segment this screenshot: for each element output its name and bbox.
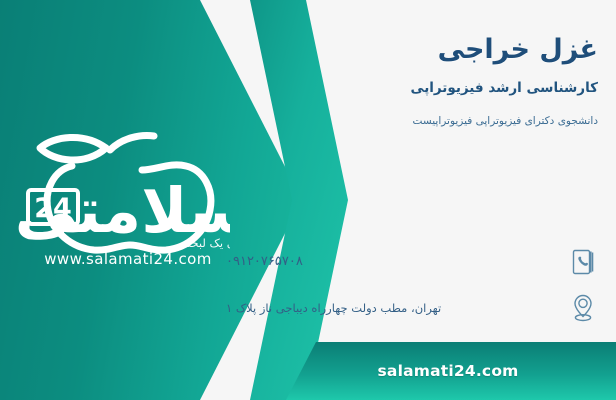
contact-list: ۰۹۱۲۰۷۶۵۷۰۸ تهران، مطب دولت چهارراه دیبا… <box>226 246 598 338</box>
salamati24-logo: سلامتی 24 به راحتی یک لبخند www.salamati… <box>14 104 230 284</box>
location-pin-icon <box>568 292 598 324</box>
address-text: تهران، مطب دولت چهارراه دیباجی ناز پلاک … <box>226 300 556 316</box>
badge-number: 24 <box>34 193 72 224</box>
logo-artwork: سلامتی 24 به راحتی یک لبخند <box>14 104 230 254</box>
person-subtitle: دانشجوی دکترای فیزیوتراپی فیزیوتراپیست <box>226 114 598 129</box>
apple-leaf-path <box>40 137 106 160</box>
business-card: سلامتی 24 به راحتی یک لبخند www.salamati… <box>0 0 616 400</box>
phone-book-icon <box>568 246 598 278</box>
logo-badge-24: 24 <box>28 190 78 224</box>
contact-row-phone[interactable]: ۰۹۱۲۰۷۶۵۷۰۸ <box>226 246 598 278</box>
person-info-block: غزل خراجی کارشناسی ارشد فیزیوتراپی دانشج… <box>226 34 598 129</box>
phone-number: ۰۹۱۲۰۷۶۵۷۰۸ <box>226 253 556 271</box>
apple-stem-path <box>110 136 154 150</box>
footer-website[interactable]: salamati24.com <box>377 362 518 380</box>
contact-row-address[interactable]: تهران، مطب دولت چهارراه دیباجی ناز پلاک … <box>226 292 598 324</box>
person-title: کارشناسی ارشد فیزیوتراپی <box>226 80 598 98</box>
logo-website-url: www.salamati24.com <box>28 250 228 268</box>
person-name: غزل خراجی <box>226 34 598 66</box>
logo-tagline: به راحتی یک لبخند <box>182 236 230 251</box>
